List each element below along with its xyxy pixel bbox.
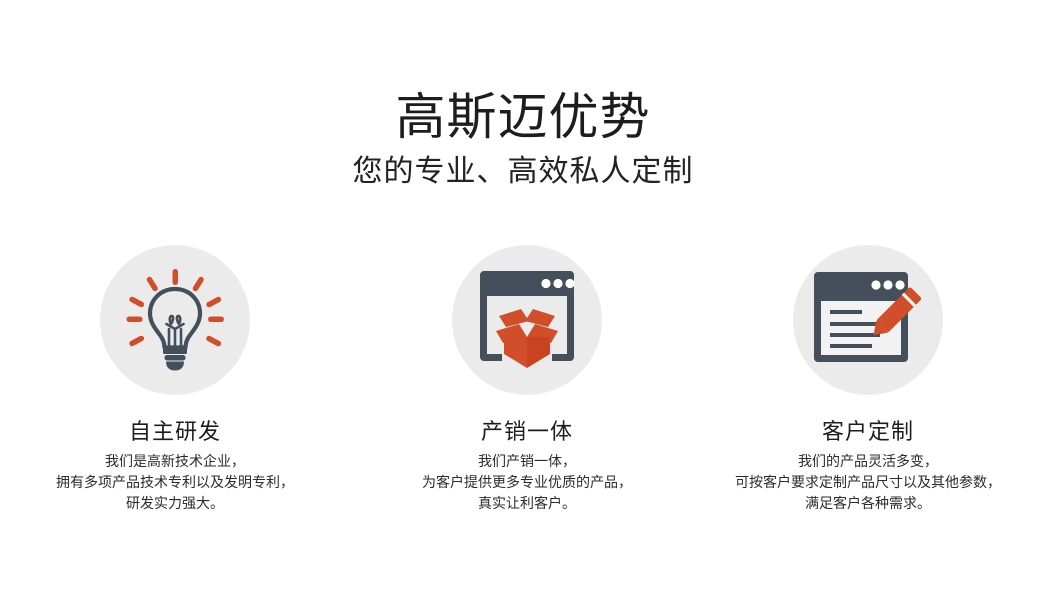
feature-column-1[interactable]: 自主研发 我们是高新技术企业， 拥有多项产品技术专利以及发明专利， 研发实力强大… [25,245,325,514]
browser-pencil-icon [812,270,924,370]
feature-column-2[interactable]: 产销一体 我们产销一体， 为客户提供更多专业优质的产品， 真实让利客户。 [377,245,677,514]
icon-badge-1 [100,245,250,395]
lightbulb-icon [120,265,230,375]
feature-column-3[interactable]: 客户定制 我们的产品灵活多变， 可按客户要求定制产品尺寸以及其他参数， 满足客户… [718,245,1018,514]
feature-desc-line: 真实让利客户。 [377,493,677,514]
feature-title-3: 客户定制 [718,417,1018,447]
feature-desc-line: 我们产销一体， [377,451,677,472]
feature-columns: 自主研发 我们是高新技术企业， 拥有多项产品技术专利以及发明专利， 研发实力强大… [0,245,1046,545]
slide-root: 高斯迈优势 您的专业、高效私人定制 [0,0,1046,589]
page-title: 高斯迈优势 [0,88,1046,146]
feature-desc-1: 我们是高新技术企业， 拥有多项产品技术专利以及发明专利， 研发实力强大。 [25,451,325,514]
feature-title-2: 产销一体 [377,417,677,447]
icon-badge-3 [793,245,943,395]
feature-desc-3: 我们的产品灵活多变， 可按客户要求定制产品尺寸以及其他参数， 满足客户各种需求。 [718,451,1018,514]
header-block: 高斯迈优势 您的专业、高效私人定制 [0,88,1046,192]
feature-desc-line: 我们的产品灵活多变， [718,451,1018,472]
feature-desc-line: 研发实力强大。 [25,493,325,514]
feature-desc-2: 我们产销一体， 为客户提供更多专业优质的产品， 真实让利客户。 [377,451,677,514]
feature-desc-line: 我们是高新技术企业， [25,451,325,472]
page-subtitle: 您的专业、高效私人定制 [0,152,1046,192]
feature-title-1: 自主研发 [25,417,325,447]
feature-desc-line: 拥有多项产品技术专利以及发明专利， [25,472,325,493]
icon-badge-2 [452,245,602,395]
feature-desc-line: 为客户提供更多专业优质的产品， [377,472,677,493]
browser-box-icon [474,269,580,371]
feature-desc-line: 满足客户各种需求。 [718,493,1018,514]
feature-desc-line: 可按客户要求定制产品尺寸以及其他参数， [718,472,1018,493]
